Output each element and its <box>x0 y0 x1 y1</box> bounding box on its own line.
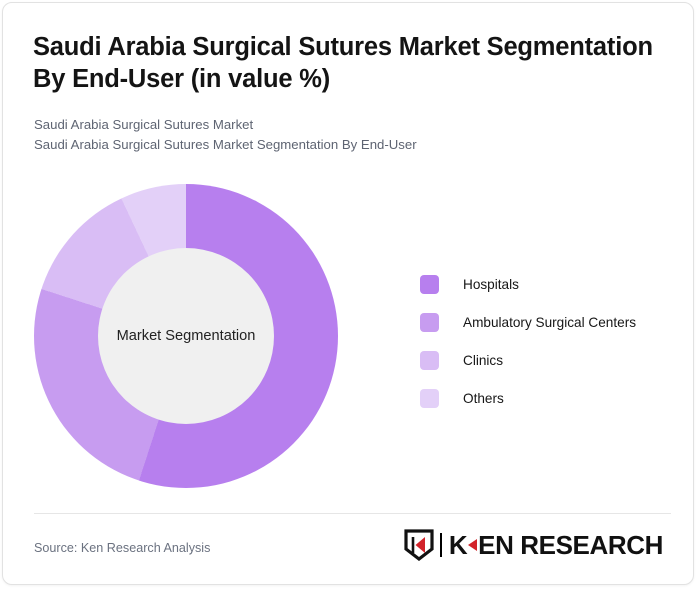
brand-letter-k: K <box>449 532 467 558</box>
footer-divider <box>34 513 671 514</box>
legend-swatch <box>420 389 439 408</box>
ken-research-shield-icon <box>404 529 434 561</box>
legend-label: Ambulatory Surgical Centers <box>463 315 636 330</box>
legend-item[interactable]: Clinics <box>420 341 670 379</box>
legend-swatch <box>420 351 439 370</box>
brand-wordmark: K EN RESEARCH <box>449 532 663 558</box>
donut-center-label: Market Segmentation <box>117 328 256 344</box>
brand-logo: K EN RESEARCH <box>404 529 663 561</box>
subtitle-block: Saudi Arabia Surgical Sutures Market Sau… <box>34 115 654 155</box>
subtitle-line-2: Saudi Arabia Surgical Sutures Market Seg… <box>34 135 654 155</box>
brand-triangle-icon <box>468 539 477 551</box>
donut-center: Market Segmentation <box>98 248 274 424</box>
legend-swatch <box>420 313 439 332</box>
brand-name-rest: EN RESEARCH <box>478 532 663 558</box>
legend-item[interactable]: Others <box>420 379 670 417</box>
legend-label: Others <box>463 391 504 406</box>
legend-label: Clinics <box>463 353 503 368</box>
chart-card: Saudi Arabia Surgical Sutures Market Seg… <box>2 2 694 585</box>
donut-chart: Market Segmentation <box>34 184 338 488</box>
chart-legend: HospitalsAmbulatory Surgical CentersClin… <box>420 265 670 417</box>
page-title: Saudi Arabia Surgical Sutures Market Seg… <box>33 31 658 95</box>
brand-separator <box>440 533 442 557</box>
source-note: Source: Ken Research Analysis <box>34 541 210 555</box>
legend-item[interactable]: Ambulatory Surgical Centers <box>420 303 670 341</box>
legend-swatch <box>420 275 439 294</box>
legend-label: Hospitals <box>463 277 519 292</box>
legend-item[interactable]: Hospitals <box>420 265 670 303</box>
subtitle-line-1: Saudi Arabia Surgical Sutures Market <box>34 115 654 135</box>
